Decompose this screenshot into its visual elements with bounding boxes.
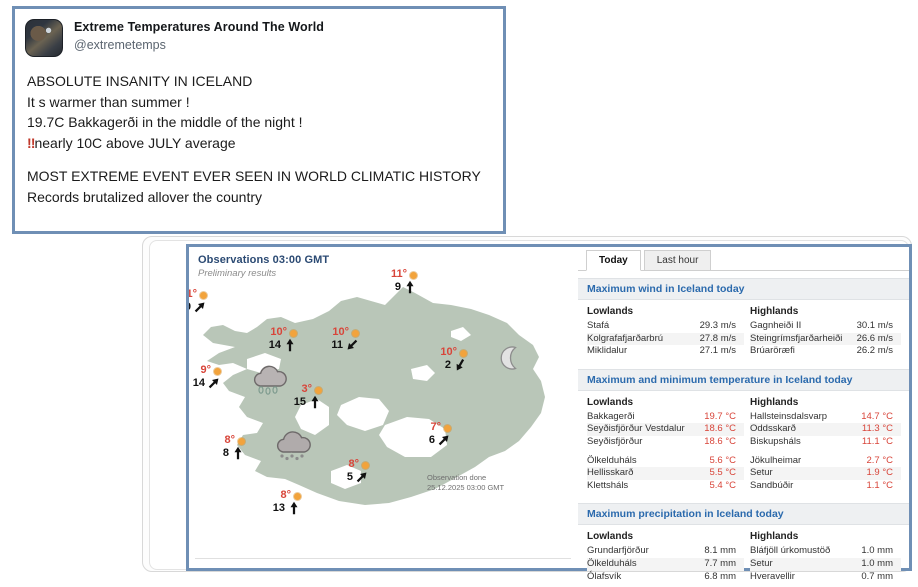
table-row: Ölkelduháls5.6 °C bbox=[587, 455, 744, 468]
station-name: Klettsháls bbox=[587, 480, 628, 493]
station-wind: 5 bbox=[347, 471, 353, 483]
station-value: 5.5 °C bbox=[701, 467, 736, 480]
station-dot-icon bbox=[290, 330, 297, 337]
wind-arrow-icon bbox=[193, 300, 207, 314]
station-name: Kolgrafafjarðarbrú bbox=[587, 333, 663, 346]
wind-highlands-column: Highlands Gagnheiði II30.1 m/s Steingrím… bbox=[744, 306, 901, 358]
table-row: Bakkagerði19.7 °C bbox=[587, 411, 744, 424]
station-temp: 11° bbox=[391, 269, 407, 280]
station-value: 1.0 mm bbox=[853, 545, 893, 558]
section-heading-precipitation: Maximum precipitation in Iceland today bbox=[578, 503, 909, 525]
wind-arrow-icon bbox=[283, 338, 297, 352]
section-heading-temperature: Maximum and minimum temperature in Icela… bbox=[578, 369, 909, 391]
station-dot-icon bbox=[315, 387, 322, 394]
station-dot-icon bbox=[294, 493, 301, 500]
precipitation-highlands-column: Highlands Bláfjöll úrkomustöð1.0 mm Setu… bbox=[744, 531, 901, 583]
column-header-highlands: Highlands bbox=[750, 397, 901, 411]
station-value: 11.3 °C bbox=[854, 423, 893, 436]
station-value: 18.6 °C bbox=[696, 436, 736, 449]
station-value: 27.1 m/s bbox=[692, 345, 736, 358]
station-name: Oddsskarð bbox=[750, 423, 796, 436]
tweet-line-3: 19.7C Bakkagerði in the middle of the ni… bbox=[27, 112, 503, 133]
table-row: Steingrímsfjarðarheiði26.6 m/s bbox=[750, 333, 901, 346]
wind-arrow-icon bbox=[453, 358, 467, 372]
wind-arrow-icon bbox=[287, 501, 301, 515]
station-name: Setur bbox=[750, 558, 773, 571]
wind-arrow-icon bbox=[345, 338, 359, 352]
iceland-map-pane[interactable]: Observations 03:00 GMT Preliminary resul… bbox=[189, 247, 578, 568]
table-row: Oddsskarð11.3 °C bbox=[750, 423, 901, 436]
station-name: Bláfjöll úrkomustöð bbox=[750, 545, 830, 558]
table-row: Gagnheiði II30.1 m/s bbox=[750, 320, 901, 333]
station-value: 30.1 m/s bbox=[849, 320, 893, 333]
temperature-highlands-column: Highlands Hallsteinsdalsvarp14.7 °C Odds… bbox=[744, 397, 901, 493]
tweet-line-5: MOST EXTREME EVENT EVER SEEN IN WORLD CL… bbox=[27, 166, 503, 187]
station-dot-icon bbox=[214, 368, 221, 375]
station-dot-icon bbox=[352, 330, 359, 337]
station-wind: 14 bbox=[193, 377, 205, 389]
table-row: Miklidalur27.1 m/s bbox=[587, 345, 744, 358]
station-value: 18.6 °C bbox=[696, 423, 736, 436]
wind-arrow-icon bbox=[308, 395, 322, 409]
tweet-line-1: ABSOLUTE INSANITY IN ICELAND bbox=[27, 71, 503, 92]
station-value: 5.4 °C bbox=[701, 480, 736, 493]
station-temp: 3° bbox=[301, 384, 312, 395]
station-value: 5.6 °C bbox=[701, 455, 736, 468]
station-value: 11.1 °C bbox=[854, 436, 893, 449]
station-wind: 15 bbox=[294, 396, 306, 408]
tab-bar: Today Last hour bbox=[578, 247, 909, 271]
station-wind: 11 bbox=[331, 339, 343, 351]
table-row: Stafá29.3 m/s bbox=[587, 320, 744, 333]
station-value: 8.1 mm bbox=[696, 545, 736, 558]
station-wind: 2 bbox=[445, 359, 451, 371]
column-header-lowlands: Lowlands bbox=[587, 531, 744, 545]
station-dot-icon bbox=[238, 438, 245, 445]
station-value: 1.0 mm bbox=[853, 558, 893, 571]
table-row: Sandbúðir1.1 °C bbox=[750, 480, 901, 493]
table-row: Setur1.9 °C bbox=[750, 467, 901, 480]
table-row: Grundarfjörður8.1 mm bbox=[587, 545, 744, 558]
iceland-landmass-icon bbox=[189, 265, 578, 555]
table-row: Setur1.0 mm bbox=[750, 558, 901, 571]
table-row: Hallsteinsdalsvarp14.7 °C bbox=[750, 411, 901, 424]
station-name: Jökulheimar bbox=[750, 455, 801, 468]
station-value: 1.9 °C bbox=[858, 467, 893, 480]
cloud-drizzle-icon bbox=[249, 361, 291, 395]
table-row: Biskupsháls11.1 °C bbox=[750, 436, 901, 449]
station-wind: 13 bbox=[273, 502, 285, 514]
table-row: Klettsháls5.4 °C bbox=[587, 480, 744, 493]
station-name: Hveravellir bbox=[750, 571, 795, 584]
station-dot-icon bbox=[410, 272, 417, 279]
section-heading-wind: Maximum wind in Iceland today bbox=[578, 278, 909, 300]
account-display-name: Extreme Temperatures Around The World bbox=[74, 20, 324, 35]
table-row: Seyðisfjörður Vestdalur18.6 °C bbox=[587, 423, 744, 436]
station-name: Stafá bbox=[587, 320, 609, 333]
station-name: Ölkelduháls bbox=[587, 455, 637, 468]
account-handle[interactable]: @extremetemps bbox=[74, 37, 324, 54]
station-name: Hallsteinsdalsvarp bbox=[750, 411, 827, 424]
table-row: Jökulheimar2.7 °C bbox=[750, 455, 901, 468]
section-temperature-columns: Lowlands Bakkagerði19.7 °C Seyðisfjörður… bbox=[578, 391, 909, 497]
column-header-lowlands: Lowlands bbox=[587, 397, 744, 411]
station-temp: 8° bbox=[224, 435, 235, 446]
station-name: Biskupsháls bbox=[750, 436, 801, 449]
tab-today[interactable]: Today bbox=[586, 250, 641, 271]
station-temp: 8° bbox=[348, 459, 359, 470]
station-value: 19.7 °C bbox=[696, 411, 736, 424]
station-name: Setur bbox=[750, 467, 773, 480]
weather-widget: Observations 03:00 GMT Preliminary resul… bbox=[186, 244, 912, 571]
station-temp: 9° bbox=[200, 365, 211, 376]
wind-arrow-icon bbox=[437, 433, 451, 447]
tweet-body: ABSOLUTE INSANITY IN ICELAND It s warmer… bbox=[15, 57, 503, 207]
station-value: 14.7 °C bbox=[853, 411, 893, 424]
station-dot-icon bbox=[200, 292, 207, 299]
observations-data-pane: Today Last hour Maximum wind in Iceland … bbox=[578, 247, 909, 568]
station-value: 26.6 m/s bbox=[849, 333, 893, 346]
station-dot-icon bbox=[460, 350, 467, 357]
station-name: Grundarfjörður bbox=[587, 545, 649, 558]
station-name: Gagnheiði II bbox=[750, 320, 801, 333]
station-value: 26.2 m/s bbox=[849, 345, 893, 358]
section-precipitation-columns: Lowlands Grundarfjörður8.1 mm Ölkelduhál… bbox=[578, 525, 909, 587]
station-wind: 6 bbox=[429, 434, 435, 446]
station-temp: 8° bbox=[280, 490, 291, 501]
station-name: Miklidalur bbox=[587, 345, 627, 358]
table-row: Bláfjöll úrkomustöð1.0 mm bbox=[750, 545, 901, 558]
station-wind: 19 bbox=[189, 301, 191, 313]
tweet-card: Extreme Temperatures Around The World @e… bbox=[12, 6, 506, 234]
station-temp: 10° bbox=[440, 347, 457, 358]
tweet-line-6: Records brutalized allover the country bbox=[27, 187, 503, 208]
table-row: Hellisskarð5.5 °C bbox=[587, 467, 744, 480]
station-name: Ólafsvík bbox=[587, 571, 621, 584]
station-dot-icon bbox=[362, 462, 369, 469]
station-temp: 10° bbox=[270, 327, 287, 338]
tweet-line-4-text: nearly 10C above JULY average bbox=[34, 135, 235, 151]
column-header-lowlands: Lowlands bbox=[587, 306, 744, 320]
station-value: 6.8 mm bbox=[696, 571, 736, 584]
account-name-block: Extreme Temperatures Around The World @e… bbox=[74, 19, 324, 54]
map-bottom-divider bbox=[195, 558, 571, 559]
station-value: 29.3 m/s bbox=[692, 320, 736, 333]
station-value: 2.7 °C bbox=[858, 455, 893, 468]
observation-timestamp: Observation done 25.12.2025 03:00 GMT bbox=[427, 473, 504, 493]
station-wind: 14 bbox=[269, 339, 281, 351]
station-temp: 11° bbox=[189, 289, 197, 300]
station-name: Hellisskarð bbox=[587, 467, 633, 480]
table-row: Ólafsvík6.8 mm bbox=[587, 571, 744, 584]
tab-last-hour[interactable]: Last hour bbox=[644, 250, 712, 270]
tweet-header: Extreme Temperatures Around The World @e… bbox=[15, 9, 503, 57]
station-value: 0.7 mm bbox=[853, 571, 893, 584]
station-wind: 9 bbox=[395, 281, 401, 293]
table-row: Kolgrafafjarðarbrú27.8 m/s bbox=[587, 333, 744, 346]
station-name: Brúaröræfi bbox=[750, 345, 795, 358]
station-value: 7.7 mm bbox=[696, 558, 736, 571]
section-wind-columns: Lowlands Stafá29.3 m/s Kolgrafafjarðarbr… bbox=[578, 300, 909, 362]
station-name: Bakkagerði bbox=[587, 411, 635, 424]
station-name: Steingrímsfjarðarheiði bbox=[750, 333, 842, 346]
column-header-highlands: Highlands bbox=[750, 531, 901, 545]
station-temp: 7° bbox=[430, 422, 441, 433]
tweet-line-blank bbox=[27, 153, 503, 166]
station-wind: 8 bbox=[223, 447, 229, 459]
station-name: Sandbúðir bbox=[750, 480, 793, 493]
table-row: Ölkelduháls7.7 mm bbox=[587, 558, 744, 571]
station-value: 1.1 °C bbox=[858, 480, 893, 493]
station-name: Seyðisfjörður Vestdalur bbox=[587, 423, 685, 436]
station-name: Ölkelduháls bbox=[587, 558, 637, 571]
temperature-lowlands-column: Lowlands Bakkagerði19.7 °C Seyðisfjörður… bbox=[587, 397, 744, 493]
table-row: Brúaröræfi26.2 m/s bbox=[750, 345, 901, 358]
tweet-line-2: It s warmer than summer ! bbox=[27, 92, 503, 113]
wind-arrow-icon bbox=[403, 280, 417, 294]
table-row: Seyðisfjörður18.6 °C bbox=[587, 436, 744, 449]
column-header-highlands: Highlands bbox=[750, 306, 901, 320]
table-row: Hveravellir0.7 mm bbox=[750, 571, 901, 584]
wind-arrow-icon bbox=[231, 446, 245, 460]
station-name: Seyðisfjörður bbox=[587, 436, 642, 449]
station-value: 27.8 m/s bbox=[692, 333, 736, 346]
tweet-line-4: ‼nearly 10C above JULY average bbox=[27, 133, 503, 154]
moon-clear-icon bbox=[497, 345, 523, 371]
wind-lowlands-column: Lowlands Stafá29.3 m/s Kolgrafafjarðarbr… bbox=[587, 306, 744, 358]
avatar[interactable] bbox=[25, 19, 63, 57]
station-temp: 10° bbox=[332, 327, 349, 338]
precipitation-lowlands-column: Lowlands Grundarfjörður8.1 mm Ölkelduhál… bbox=[587, 531, 744, 583]
cloud-rain-icon bbox=[271, 430, 319, 464]
wind-arrow-icon bbox=[207, 376, 221, 390]
wind-arrow-icon bbox=[355, 470, 369, 484]
station-dot-icon bbox=[444, 425, 451, 432]
